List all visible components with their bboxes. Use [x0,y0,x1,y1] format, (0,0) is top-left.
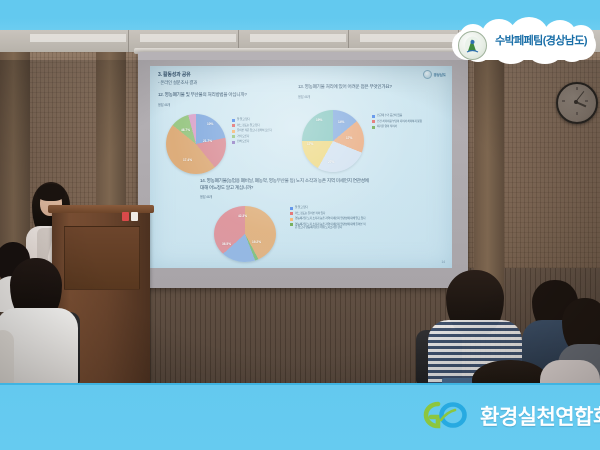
audience-person-edge-left [0,330,14,383]
slide-corner-logo: 경상남도 [423,70,446,79]
legend-swatch-icon [290,207,293,210]
presentation-slide: 3. 활동성과 공유 - 온라인 설문조사 결과 경상남도 12. 영농폐기물 … [150,66,452,268]
chart-subtitle-q13: 응답 46개 [298,94,410,99]
lectern-object-white [131,212,138,221]
legend-swatch-icon [372,115,375,118]
chart-block-q12: 12. 영농폐기물 및 부산물의 처리방법을 아십니까? 응답 46개 [158,92,288,107]
pie-label-q14-0: 42.3% [238,214,247,218]
pie-label-q12-1: 21.7% [203,139,212,143]
legend-item: 어느 정도는 알고 있다 [232,124,288,128]
chart-title-q13: 13. 영농폐기물 처리에 있어 어려운 점은 무엇인가요? [298,84,410,91]
legend-swatch-icon [232,135,235,138]
legend-item: 거의 모른다 [232,135,288,139]
chart-subtitle-q12: 응답 46개 [158,102,288,107]
pie-label-q13-1: 17% [346,136,352,140]
legend-item: 잘 알고 있다 [232,118,288,122]
wall-column [474,52,504,292]
legend-label: 영농폐기물 노지 소각과 농촌 지역 미세먼지 연관성에 대해 알고 있다 [295,217,365,220]
legend-swatch-icon [290,212,293,215]
pie-label-q12-3: 10% [207,122,213,126]
ceiling-seam [128,30,129,52]
legend-swatch-icon [372,126,375,129]
lectern-object-red [122,212,129,221]
slide-header: 3. 활동성과 공유 - 온라인 설문조사 결과 [158,72,197,86]
legend-item: 잘 알고 있다 [290,206,366,210]
audience-body [540,360,600,383]
pie-label-q12-0: 46.7% [181,128,190,132]
legend-label: 잘 알고 있다 [237,118,250,121]
legend-item: 영농폐기물 노지 소각과 농촌 지역 미세먼지 연관성에 대해 들어본 적은 있… [290,223,366,230]
audience-body [0,330,14,383]
legend-swatch-icon [232,119,235,122]
ceiling-panel [360,34,456,42]
cloud-bump [530,47,560,64]
ceiling-panel [250,34,346,42]
emblem-graphic [464,36,481,55]
legend-label: 들어본 적은 있으나 정확히 모른다 [237,129,272,132]
legend-item: 어느 정도는 들어본 적이 있다 [290,212,366,216]
legend-swatch-icon [232,124,235,127]
chart-title-q14: 14. 영농폐기물(농업용 폐비닐, 폐농약, 영농부산물 등) 노지 소각과 … [200,178,370,191]
pie-label-q13-3: 17% [307,142,313,146]
legend-label: 거의 모른다 [237,135,249,138]
legend-swatch-icon [290,218,293,221]
organization-logo: 환경실천연합회 [416,396,586,436]
team-badge: 수박페페팀(경상남도) [452,22,596,66]
chart-block-q14: 14. 영농폐기물(농업용 폐비닐, 폐농약, 영농부산물 등) 노지 소각과 … [200,178,370,199]
legend-label: 잘 알고 있다 [295,206,308,209]
slide-header-line2: - 온라인 설문조사 결과 [158,79,197,86]
audience-shoulder-right [540,360,600,383]
presenter-hair-front [37,184,65,201]
slide-header-line1: 3. 활동성과 공유 [158,72,197,79]
slide-page-number: 14 [441,260,445,264]
legend-swatch-icon [232,130,235,133]
pie-label-q14-1: 36.5% [222,242,231,246]
legend-swatch-icon [372,120,375,123]
legend-item: 폐기물 양이 적어서 [372,125,444,129]
pie-label-q13-0: 14% [338,120,344,124]
legend-item: 인건·처리비용 부담이 되어서 처리하지 못함 [372,120,444,124]
pie-label-q12-2: 17.4% [183,158,192,162]
ceiling-panel [30,34,126,42]
province-emblem-icon [423,70,432,79]
legend-label: 영농폐기물 노지 소각과 농촌 지역 미세먼지 연관성에 대해 들어본 적은 있… [295,223,366,230]
chart-block-q13: 13. 영농폐기물 처리에 있어 어려운 점은 무엇인가요? 응답 46개 [298,84,410,99]
wall-clock-icon [556,82,598,124]
legend-q14: 잘 알고 있다 어느 정도는 들어본 적이 있다 영농폐기물 노지 소각과 농촌… [290,206,366,232]
legend-item: 전혀 모른다 [232,140,288,144]
conference-room-photo: 3. 활동성과 공유 - 온라인 설문조사 결과 경상남도 12. 영농폐기물 … [0,30,600,383]
legend-q13: 인근에 수거 공간이 없음 인건·처리비용 부담이 되어서 처리하지 못함 폐기… [372,114,444,131]
legend-label: 어느 정도는 알고 있다 [237,124,260,127]
legend-item: 들어본 적은 있으나 정확히 모른다 [232,129,288,133]
chart-subtitle-q14: 응답 46개 [200,194,370,199]
organization-name: 환경실천연합회 [480,401,600,431]
pie-label-q13-2: 27% [328,160,334,164]
legend-label: 인건·처리비용 부담이 되어서 처리하지 못함 [377,120,422,123]
bottom-banner: 환경실천연합회 [0,383,600,450]
legend-label: 폐기물 양이 적어서 [377,125,397,128]
chart-title-q12: 12. 영농폐기물 및 부산물의 처리방법을 아십니까? [158,92,288,99]
legend-q12: 잘 알고 있다 어느 정도는 알고 있다 들어본 적은 있으나 정확히 모른다 … [232,118,288,146]
cloud-bump [496,47,526,64]
banner-divider [0,383,600,385]
projection-screen: 3. 활동성과 공유 - 온라인 설문조사 결과 경상남도 12. 영농폐기물 … [138,52,468,288]
legend-label: 인근에 수거 공간이 없음 [377,114,402,117]
legend-label: 전혀 모른다 [237,140,249,143]
legend-label: 어느 정도는 들어본 적이 있다 [295,212,325,215]
ceiling-panel [140,34,236,42]
legend-swatch-icon [290,223,293,226]
pie-label-q14-2: 19.2% [252,240,261,244]
slide-corner-logo-text: 경상남도 [434,72,446,77]
team-label: 수박페페팀(경상남도) [488,34,594,48]
pie-chart-q12 [166,114,226,174]
screenshot-stage: 3. 활동성과 공유 - 온라인 설문조사 결과 경상남도 12. 영농폐기물 … [0,0,600,450]
legend-swatch-icon [232,141,235,144]
legend-item: 영농폐기물 노지 소각과 농촌 지역 미세먼지 연관성에 대해 알고 있다 [290,217,366,221]
pie-label-q13-4: 19% [316,118,322,122]
audience-hair [472,360,548,383]
province-emblem-icon [458,31,487,60]
legend-item: 인근에 수거 공간이 없음 [372,114,444,118]
go-logo-icon [416,398,472,432]
lectern-top [48,205,154,213]
